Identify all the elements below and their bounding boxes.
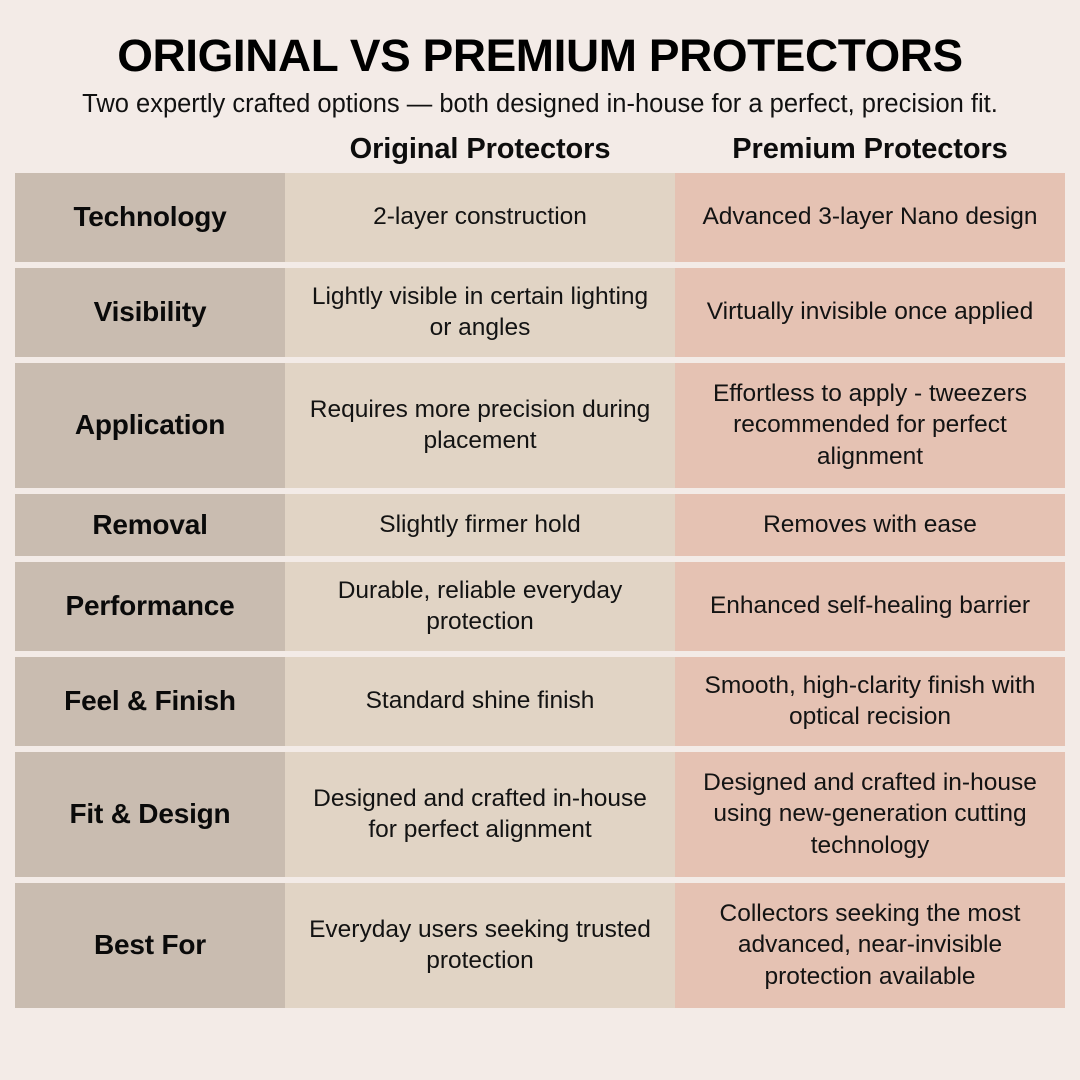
original-text: Designed and crafted in-house for perfec… [303,783,657,847]
row-premium-cell: Virtually invisible once applied [675,268,1065,357]
row-original-cell: Requires more precision during placement [285,363,675,488]
premium-text: Designed and crafted in-house using new-… [689,767,1051,863]
premium-text: Effortless to apply - tweezers recommend… [689,378,1051,474]
original-text: Everyday users seeking trusted protectio… [303,914,657,978]
row-original-cell: Designed and crafted in-house for perfec… [285,752,675,877]
row-original-cell: Standard shine finish [285,657,675,746]
original-text: Requires more precision during placement [303,394,657,458]
feature-text: Feel & Finish [64,685,236,717]
feature-text: Technology [73,201,226,233]
row-premium-cell: Smooth, high-clarity finish with optical… [675,657,1065,746]
feature-text: Visibility [94,296,207,328]
table-row: Best For Everyday users seeking trusted … [15,883,1065,1008]
feature-text: Removal [92,509,207,541]
row-original-cell: Durable, reliable everyday protection [285,562,675,651]
premium-text: Collectors seeking the most advanced, ne… [689,898,1051,994]
table-row: Fit & Design Designed and crafted in-hou… [15,752,1065,877]
row-original-cell: Lightly visible in certain lighting or a… [285,268,675,357]
feature-text: Fit & Design [70,798,231,830]
comparison-infographic: ORIGINAL VS PREMIUM PROTECTORS Two exper… [0,0,1080,1080]
feature-text: Performance [66,590,235,622]
row-original-cell: Slightly firmer hold [285,494,675,556]
row-premium-cell: Collectors seeking the most advanced, ne… [675,883,1065,1008]
column-header-premium: Premium Protectors [675,134,1065,173]
row-feature-label: Application [15,363,285,488]
premium-text: Enhanced self-healing barrier [710,590,1030,622]
original-text: Lightly visible in certain lighting or a… [303,281,657,345]
comparison-table: Technology 2-layer construction Advanced… [0,173,1080,1008]
table-row: Application Requires more precision duri… [15,363,1065,488]
original-text: 2-layer construction [373,201,587,233]
premium-text: Smooth, high-clarity finish with optical… [689,670,1051,734]
row-original-cell: 2-layer construction [285,173,675,262]
header: ORIGINAL VS PREMIUM PROTECTORS Two exper… [0,0,1080,120]
page-subtitle: Two expertly crafted options — both desi… [70,88,1010,120]
table-row: Removal Slightly firmer hold Removes wit… [15,494,1065,556]
row-feature-label: Technology [15,173,285,262]
row-original-cell: Everyday users seeking trusted protectio… [285,883,675,1008]
premium-text: Advanced 3-layer Nano design [702,201,1037,233]
original-text: Slightly firmer hold [379,509,581,541]
row-premium-cell: Advanced 3-layer Nano design [675,173,1065,262]
table-row: Visibility Lightly visible in certain li… [15,268,1065,357]
page-title: ORIGINAL VS PREMIUM PROTECTORS [18,33,1062,79]
row-feature-label: Removal [15,494,285,556]
table-row: Feel & Finish Standard shine finish Smoo… [15,657,1065,746]
feature-text: Best For [94,929,206,961]
premium-text: Removes with ease [763,509,977,541]
row-premium-cell: Enhanced self-healing barrier [675,562,1065,651]
row-premium-cell: Designed and crafted in-house using new-… [675,752,1065,877]
column-header-original: Original Protectors [285,134,675,173]
original-text: Standard shine finish [366,685,595,717]
row-feature-label: Performance [15,562,285,651]
original-text: Durable, reliable everyday protection [303,575,657,639]
premium-text: Virtually invisible once applied [707,296,1033,328]
row-feature-label: Feel & Finish [15,657,285,746]
table-row: Performance Durable, reliable everyday p… [15,562,1065,651]
row-premium-cell: Removes with ease [675,494,1065,556]
table-row: Technology 2-layer construction Advanced… [15,173,1065,262]
row-feature-label: Fit & Design [15,752,285,877]
row-feature-label: Visibility [15,268,285,357]
feature-text: Application [75,409,225,441]
column-header-spacer [15,134,285,173]
table-column-headers: Original Protectors Premium Protectors [0,134,1080,173]
row-premium-cell: Effortless to apply - tweezers recommend… [675,363,1065,488]
row-feature-label: Best For [15,883,285,1008]
